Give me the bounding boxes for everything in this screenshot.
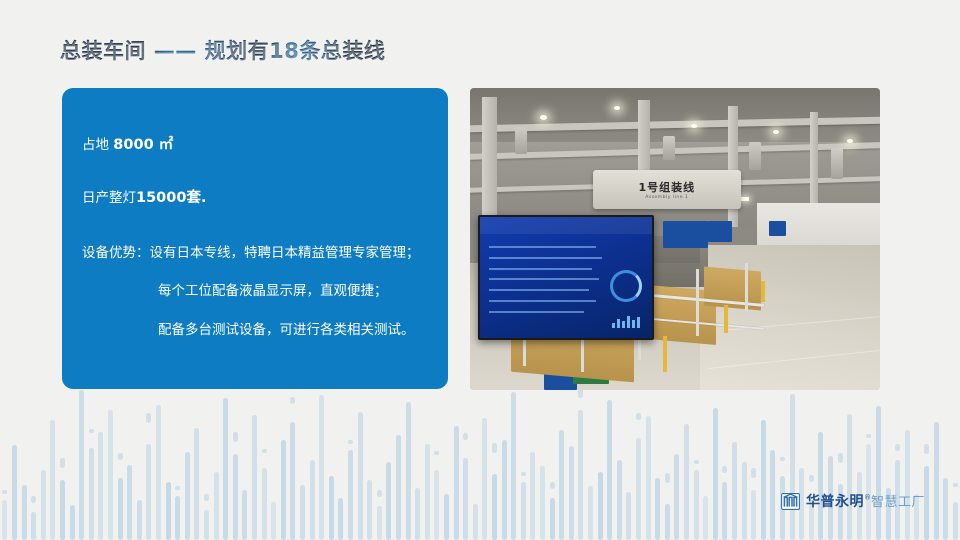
lcd-row: [489, 300, 596, 302]
assembly-line-sign-text: 1号组装线: [638, 179, 695, 195]
decorative-bar-segment: [895, 444, 900, 451]
decorative-bar: [242, 490, 247, 540]
decorative-bar: [713, 408, 718, 540]
decorative-bar: [876, 406, 881, 540]
lcd-row: [489, 268, 592, 270]
decorative-bar: [386, 462, 391, 540]
decorative-bar: [578, 410, 583, 540]
decorative-bar: [194, 428, 199, 540]
info-line-area: 占地 8000 ㎡: [82, 136, 430, 156]
decorative-bar: [425, 444, 430, 540]
decorative-bar-segment: [348, 440, 353, 444]
page-title: 总装车间 —— 规划有18条总装线: [60, 35, 385, 65]
decorative-bar-segment: [838, 453, 843, 463]
brand-logo-tagline: 智慧工厂: [871, 495, 925, 510]
decorative-bar: [636, 438, 641, 540]
decorative-bar-segment: [492, 443, 497, 453]
assembly-line-sign: 1号组装线 Assembly line 1: [593, 170, 741, 209]
decorative-bar: [934, 422, 939, 540]
brand-logo-mark-icon: [781, 493, 800, 510]
brand-logo: 华普永明®智慧工厂: [781, 491, 925, 511]
lcd-screen-header: [480, 217, 652, 234]
decorative-bar: [319, 395, 324, 540]
decorative-bar: [492, 474, 497, 540]
photo-column: [728, 106, 738, 227]
decorative-bar: [338, 498, 343, 540]
lcd-mini-bar-chart: [612, 314, 640, 328]
decorative-bar: [703, 496, 708, 540]
decorative-bar-segment: [780, 457, 785, 461]
photo-bollard: [724, 305, 728, 332]
decorative-bar: [463, 458, 468, 540]
decorative-bar: [550, 498, 555, 540]
decorative-bar: [559, 430, 564, 540]
decorative-bar-segment: [809, 475, 814, 482]
decorative-bar: [943, 478, 948, 540]
photo-blue-bin: [663, 221, 708, 248]
decorative-bar-segment: [550, 482, 555, 489]
decorative-bar: [98, 432, 103, 540]
decorative-bar: [646, 416, 651, 540]
decorative-bar-segment: [521, 472, 526, 476]
decorative-bar: [41, 470, 46, 540]
decorative-bar: [588, 486, 593, 540]
decorative-bar: [166, 482, 171, 540]
decorative-bar: [847, 414, 852, 540]
decorative-bar: [521, 482, 526, 540]
photo-blue-bin: [769, 221, 785, 236]
assembly-line-sign-subtext: Assembly line 1: [645, 195, 688, 200]
decorative-bar: [454, 426, 459, 540]
decorative-bar: [790, 394, 795, 540]
decorative-bar: [761, 420, 766, 540]
decorative-bar: [290, 422, 295, 540]
decorative-bar-segment: [665, 473, 670, 483]
lcd-display-monitor: [478, 215, 654, 340]
decorative-bar-segment: [204, 494, 209, 501]
decorative-bar-segment: [146, 413, 151, 423]
decorative-bar: [367, 480, 372, 540]
decorative-bar: [732, 442, 737, 540]
decorative-bar-segment: [233, 432, 238, 442]
decorative-bar: [348, 450, 353, 540]
decorative-bar: [751, 490, 756, 540]
slide-canvas: 总装车间 —— 规划有18条总装线 占地 8000 ㎡ 日产整灯15000套. …: [0, 0, 960, 540]
decorative-bar: [329, 476, 334, 540]
info-panel: 占地 8000 ㎡ 日产整灯15000套. 设备优势：设有日本专线，特聘日本精益…: [62, 88, 448, 389]
decorative-bar: [70, 505, 75, 540]
decorative-bar: [108, 410, 113, 540]
decorative-bar: [262, 468, 267, 540]
page-title-wrap: 总装车间 —— 规划有18条总装线: [60, 33, 385, 67]
decorative-bar: [137, 500, 142, 540]
factory-photo-scene: 1号组装线 Assembly line 1: [470, 88, 880, 390]
decorative-bar: [905, 430, 910, 540]
decorative-bar-segment: [31, 496, 36, 503]
decorative-bar: [223, 398, 228, 540]
decorative-bar: [396, 435, 401, 540]
decorative-bar-segment: [722, 466, 727, 473]
decorative-bar: [818, 432, 823, 540]
decorative-bar: [406, 402, 411, 540]
decorative-bar: [50, 420, 55, 540]
lcd-row: [489, 311, 584, 313]
decorative-bar-segment: [89, 429, 94, 433]
decorative-bar: [569, 446, 574, 540]
decorative-bar-segment: [694, 460, 699, 464]
lcd-row: [489, 257, 603, 259]
decorative-bar: [722, 482, 727, 540]
decorative-bar-segment: [118, 453, 123, 460]
factory-photo: 1号组装线 Assembly line 1: [470, 88, 880, 390]
photo-duct: [749, 142, 761, 169]
decorative-bar-segment: [60, 458, 65, 468]
decorative-bar-segment: [434, 451, 439, 455]
info-line-advantage-3: 配备多台测试设备，可进行各类相关测试。: [82, 321, 430, 339]
decorative-bar: [377, 506, 382, 540]
decorative-bar-segment: [290, 397, 295, 404]
decorative-bar: [146, 444, 151, 540]
decorative-bar: [598, 472, 603, 540]
decorative-bar-segment: [953, 483, 958, 487]
decorative-bar: [175, 496, 180, 540]
photo-duct: [831, 148, 843, 178]
photo-blue-bin: [708, 221, 733, 242]
decorative-bar-segment: [636, 413, 641, 420]
decorative-bar: [482, 418, 487, 540]
decorative-bar: [434, 470, 439, 540]
decorative-bar: [415, 488, 420, 540]
decorative-bar: [694, 470, 699, 540]
decorative-bar: [2, 500, 7, 540]
decorative-bar: [31, 512, 36, 540]
decorative-bar-segment: [377, 490, 382, 497]
decorative-bar: [742, 462, 747, 540]
decorative-bar: [607, 400, 612, 540]
decorative-bar: [300, 485, 305, 540]
decorative-bar: [233, 454, 238, 540]
decorative-bar: [22, 485, 27, 540]
decorative-bar: [214, 472, 219, 540]
lcd-row: [489, 246, 596, 248]
decorative-bar: [626, 492, 631, 540]
decorative-bar-segment: [578, 390, 583, 398]
decorative-bar: [252, 415, 257, 540]
decorative-bar-segment: [751, 468, 756, 478]
photo-bollard: [761, 281, 765, 302]
decorative-bar-segment: [924, 444, 929, 454]
photo-column: [482, 97, 496, 218]
decorative-bar: [540, 466, 545, 540]
brand-logo-name: 华普永明®智慧工厂: [806, 491, 925, 511]
info-line-output-label: 日产整灯: [82, 190, 136, 206]
info-line-output-value: 15000套.: [136, 190, 206, 206]
info-line-advantage-1: 设备优势：设有日本专线，特聘日本精益管理专家管理；: [82, 244, 430, 262]
lcd-donut-chart: [610, 270, 642, 302]
decorative-bar: [770, 450, 775, 540]
info-line-area-value: 8000 ㎡: [113, 137, 173, 153]
decorative-bar-segment: [175, 486, 180, 490]
decorative-bar: [674, 454, 679, 540]
photo-ceiling-shadow: [470, 88, 880, 142]
photo-railing-post: [745, 263, 748, 311]
decorative-bar: [118, 478, 123, 540]
decorative-bar-segment: [866, 434, 871, 438]
decorative-bar: [655, 478, 660, 540]
photo-lamp: [614, 106, 620, 110]
info-line-area-label: 占地: [82, 137, 113, 153]
decorative-bar: [473, 504, 478, 540]
decorative-bar: [953, 502, 958, 540]
decorative-bar-segment: [262, 449, 267, 453]
decorative-bar: [12, 445, 17, 540]
decorative-bar: [60, 480, 65, 540]
decorative-bar-segment: [463, 433, 468, 440]
decorative-bar: [530, 452, 535, 540]
photo-duct: [663, 136, 675, 160]
lcd-row: [489, 278, 599, 280]
decorative-bar: [271, 502, 276, 540]
decorative-bar: [358, 412, 363, 540]
decorative-bar: [665, 504, 670, 540]
photo-lamp: [540, 115, 547, 120]
decorative-bar: [617, 460, 622, 540]
photo-duct: [515, 127, 527, 154]
decorative-bar: [511, 392, 516, 540]
photo-bollard: [663, 336, 667, 372]
decorative-bar-pattern: [0, 390, 960, 540]
decorative-bar: [89, 448, 94, 540]
decorative-bar: [281, 440, 286, 540]
brand-logo-company: 华普永明: [806, 494, 864, 510]
decorative-bar: [127, 465, 132, 540]
decorative-bar: [204, 510, 209, 540]
info-line-advantage-2: 每个工位配备液晶显示屏，直观便捷；: [82, 282, 430, 300]
decorative-bar: [79, 390, 84, 540]
lcd-row: [489, 289, 589, 291]
decorative-bar: [444, 494, 449, 540]
photo-railing-post: [696, 269, 699, 335]
decorative-bar: [185, 452, 190, 540]
decorative-bar: [156, 405, 161, 540]
decorative-bar: [310, 460, 315, 540]
decorative-bar-segment: [2, 490, 7, 494]
decorative-bar: [684, 424, 689, 540]
brand-logo-registered-mark: ®: [864, 494, 871, 502]
decorative-bar: [502, 440, 507, 540]
info-line-output: 日产整灯15000套.: [82, 189, 430, 209]
